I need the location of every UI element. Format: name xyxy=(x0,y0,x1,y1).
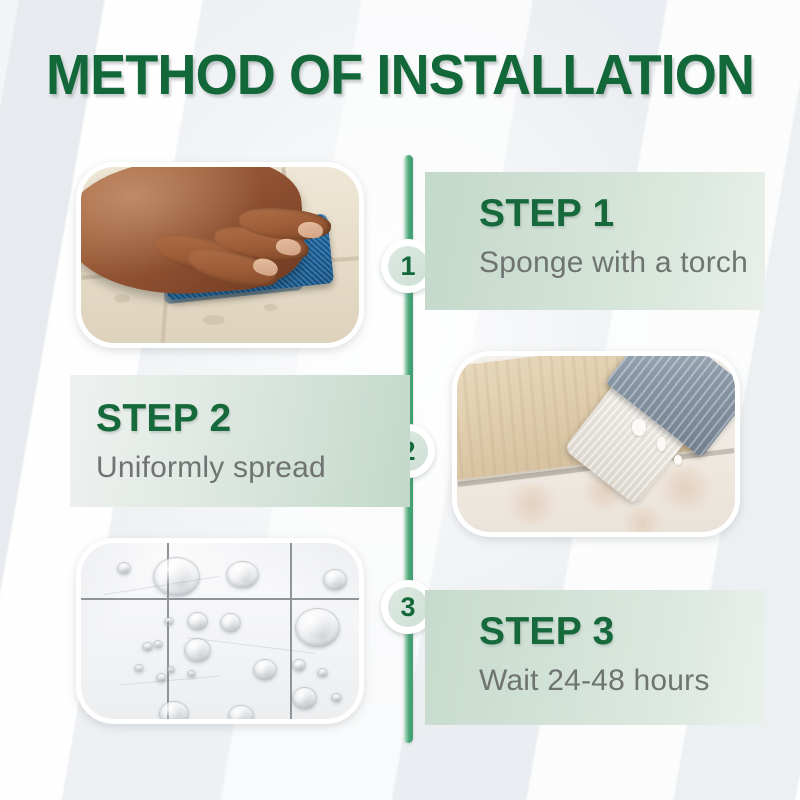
step-1-text-panel: STEP 1 Sponge with a torch xyxy=(425,172,765,310)
water-bead xyxy=(226,561,259,589)
water-bead xyxy=(331,693,342,703)
water-bead xyxy=(142,642,153,652)
page-title: METHOD OF INSTALLATION xyxy=(20,47,780,104)
water-bead xyxy=(184,638,211,663)
marble-grout-vertical-right xyxy=(290,543,292,719)
step-3-description: Wait 24-48 hours xyxy=(479,666,765,696)
step-2-title: STEP 2 xyxy=(96,399,410,438)
water-bead xyxy=(295,608,340,648)
floor-pattern-motif xyxy=(618,507,668,532)
step-1-title: STEP 1 xyxy=(479,194,765,233)
step-3-title: STEP 3 xyxy=(479,612,765,651)
step-badge-1-number: 1 xyxy=(400,253,415,280)
step-2-text-panel: STEP 2 Uniformly spread xyxy=(70,375,410,507)
marble-grout-horizontal xyxy=(81,598,359,600)
step-badge-3-number: 3 xyxy=(400,594,415,621)
water-beading-tile-photo xyxy=(81,543,359,719)
water-bead xyxy=(187,612,208,631)
step-3-text-panel: STEP 3 Wait 24-48 hours xyxy=(425,590,765,725)
floor-pattern-motif xyxy=(501,483,562,525)
step-2-photo-frame xyxy=(452,351,740,537)
water-bead xyxy=(187,670,196,678)
step-1-photo-frame xyxy=(76,162,364,348)
water-bead xyxy=(153,640,163,649)
step-3-photo-frame xyxy=(76,538,364,724)
hand-sponging-tile-photo xyxy=(81,167,359,343)
infographic-page: METHOD OF INSTALLATION 1 2 3 STEP 1 Spon… xyxy=(0,0,800,800)
tile-speck xyxy=(114,294,130,303)
tile-speck xyxy=(203,315,225,325)
step-1-description: Sponge with a torch xyxy=(479,248,765,278)
water-bead xyxy=(159,701,189,719)
step-2-description: Uniformly spread xyxy=(96,453,410,483)
brush-spreading-sealer-photo xyxy=(457,356,735,532)
sealer-drip xyxy=(674,455,682,465)
